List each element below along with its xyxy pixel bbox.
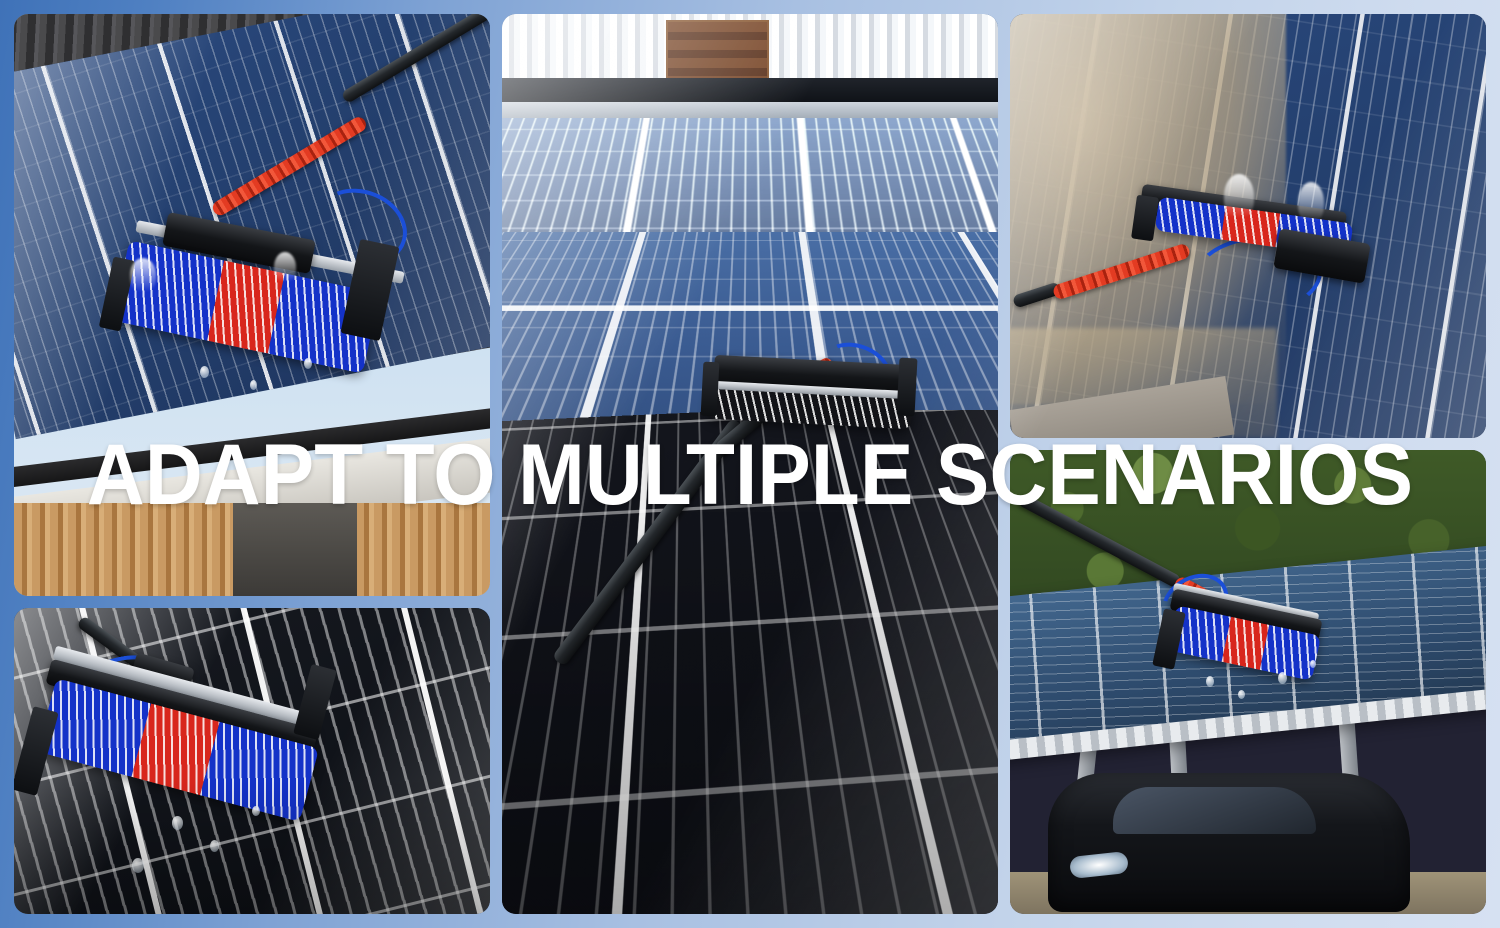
scene-image-bottom-left bbox=[14, 608, 490, 914]
scene-image-top-left bbox=[14, 14, 490, 596]
brush-end-cap-right bbox=[896, 358, 917, 417]
brush-end-cap-left bbox=[701, 362, 720, 417]
water-spray bbox=[1298, 182, 1324, 222]
brush-pole bbox=[1017, 493, 1182, 589]
water-droplet bbox=[132, 858, 144, 873]
cleaning-brush-assembly-bl bbox=[14, 608, 490, 914]
water-droplet bbox=[304, 358, 312, 369]
water-droplet bbox=[172, 816, 183, 830]
cleaning-brush-assembly-mid bbox=[502, 14, 998, 914]
scene-wet-ground-array[interactable] bbox=[14, 608, 490, 914]
water-droplet bbox=[210, 840, 219, 852]
water-droplet bbox=[1238, 690, 1245, 699]
brush-pole bbox=[552, 418, 745, 667]
water-droplet bbox=[1310, 660, 1316, 668]
water-droplet bbox=[1278, 672, 1287, 684]
cleaning-brush-assembly-tr bbox=[1010, 14, 1486, 438]
scene-solar-carport[interactable] bbox=[1010, 450, 1486, 914]
water-spray bbox=[130, 258, 156, 292]
brush-pole bbox=[341, 14, 490, 104]
cleaning-brush-assembly-tl bbox=[14, 14, 490, 596]
scene-tiled-roof-house[interactable] bbox=[14, 14, 490, 596]
water-droplet bbox=[1206, 676, 1214, 687]
brush-end-cap-left bbox=[1131, 195, 1159, 242]
brush-pole-grip bbox=[1052, 242, 1192, 300]
scene-image-center bbox=[502, 14, 998, 914]
bristle-segment-blue bbox=[112, 240, 224, 340]
scene-image-bottom-right bbox=[1010, 450, 1486, 914]
water-spray bbox=[274, 252, 296, 282]
scene-dusty-panels[interactable] bbox=[1010, 14, 1486, 438]
cleaning-brush-assembly-br bbox=[1010, 450, 1486, 914]
water-spray bbox=[1224, 174, 1254, 218]
brush-end-cap-right bbox=[293, 664, 337, 740]
scene-industrial-rooftop[interactable] bbox=[502, 14, 998, 914]
water-droplet bbox=[250, 380, 257, 390]
banner-stage: ADAPT TO MULTIPLE SCENARIOS bbox=[0, 0, 1500, 928]
scene-image-top-right bbox=[1010, 14, 1486, 438]
scene-collage-grid bbox=[14, 14, 1486, 914]
water-droplet bbox=[200, 366, 209, 378]
water-droplet bbox=[252, 806, 260, 816]
bristle-segment-blue-2 bbox=[1259, 625, 1321, 681]
